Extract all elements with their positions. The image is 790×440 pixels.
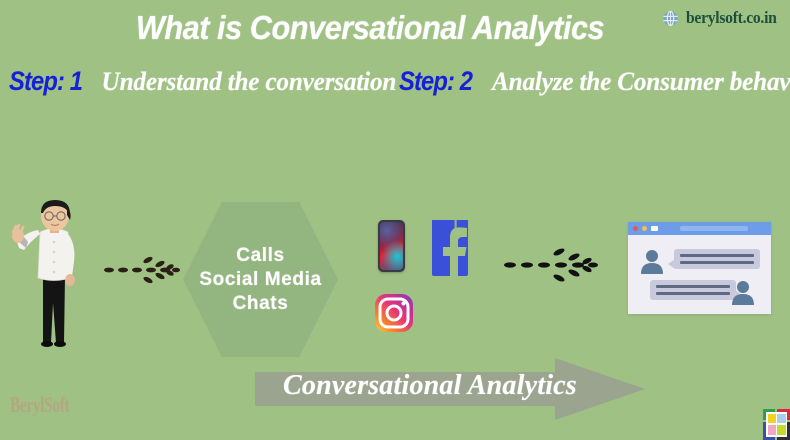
- smartphone-screen: [380, 222, 403, 270]
- footer-banner-text: Conversational Analytics: [283, 370, 577, 402]
- page-title: What is Conversational Analytics: [26, 9, 714, 47]
- maximize-icon[interactable]: [651, 226, 658, 231]
- watermark: BerylSoft: [10, 392, 69, 418]
- window-titlebar: [628, 222, 771, 235]
- close-icon[interactable]: [633, 226, 638, 231]
- bubble-text-line: [680, 254, 754, 257]
- step-1-label: Step: 1: [9, 66, 82, 97]
- minimize-icon[interactable]: [642, 226, 647, 231]
- dashed-arrow-right: [103, 252, 183, 286]
- step-1-text: Understand the conversation: [102, 67, 397, 97]
- address-bar[interactable]: [680, 226, 748, 231]
- steps-row: Step: 1 Understand the conversation Step…: [0, 66, 790, 114]
- social-icons-group: [370, 220, 480, 345]
- hexagon-line-calls: Calls: [236, 245, 284, 267]
- step-1: Step: 1 Understand the conversation: [4, 66, 401, 97]
- channels-hexagon: Calls Social Media Chats: [183, 202, 338, 357]
- person-illustration: [10, 198, 102, 348]
- footer-banner: Conversational Analytics: [255, 358, 645, 420]
- bubble-text-line: [656, 292, 730, 295]
- step-2: Step: 2 Analyze the Consumer behavior: [394, 66, 790, 97]
- smartphone-icon: [378, 220, 405, 272]
- hexagon-line-social-media: Social Media: [199, 269, 321, 291]
- instagram-icon: [374, 293, 414, 333]
- brand-logo: berylsoft.co.in: [662, 8, 784, 28]
- bubble-text-line: [656, 285, 730, 288]
- facebook-icon: [428, 218, 472, 280]
- avatar: [730, 279, 756, 305]
- brand-name: berylsoft.co.in: [686, 8, 777, 28]
- infographic-slide: What is Conversational Analytics berylso…: [0, 0, 790, 440]
- chat-body: [628, 235, 771, 314]
- hexagon-line-chats: Chats: [233, 293, 289, 315]
- hexagon-labels: Calls Social Media Chats: [183, 202, 338, 357]
- colored-grid-logo: [758, 398, 790, 440]
- chat-browser-window: [628, 222, 771, 314]
- bubble-tail: [668, 259, 675, 269]
- diagram-stage: Calls Social Media Chats: [0, 130, 790, 380]
- step-2-label: Step: 2: [399, 66, 472, 97]
- chat-bubble-left: [674, 249, 760, 269]
- chat-bubble-right: [650, 280, 736, 300]
- avatar: [639, 248, 665, 274]
- globe-icon: [662, 10, 679, 27]
- dashed-arrow-right: [503, 243, 608, 285]
- step-2-text: Analyze the Consumer behavior: [492, 67, 790, 97]
- bubble-text-line: [680, 261, 754, 264]
